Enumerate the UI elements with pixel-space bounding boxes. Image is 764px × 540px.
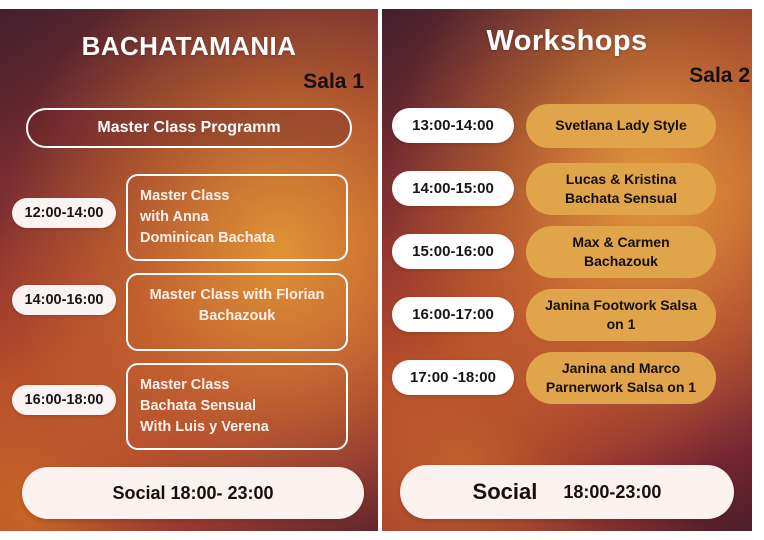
class-description-box: Master Class with FlorianBachazouk bbox=[126, 273, 348, 351]
schedule-row: 16:00-18:00 Master ClassBachata SensualW… bbox=[12, 363, 378, 450]
time-slot-pill: 17:00 -18:00 bbox=[392, 360, 514, 395]
class-description-box: Master ClassBachata SensualWith Luis y V… bbox=[126, 363, 348, 450]
right-panel-content: Workshops Sala 2 13:00-14:00 Svetlana La… bbox=[382, 9, 752, 531]
social-bar-sala-1: Social 18:00- 23:00 bbox=[22, 467, 364, 519]
workshop-description-pill: Janina and MarcoParnerwork Salsa on 1 bbox=[526, 352, 716, 404]
panel-sala-2: Workshops Sala 2 13:00-14:00 Svetlana La… bbox=[382, 9, 752, 531]
workshop-description-pill: Janina Footwork Salsaon 1 bbox=[526, 289, 716, 341]
social-bar-sala-2-time: 18:00-23:00 bbox=[563, 482, 661, 503]
time-slot-pill: 13:00-14:00 bbox=[392, 108, 514, 143]
workshop-description-pill: Max & CarmenBachazouk bbox=[526, 226, 716, 278]
social-bar-sala-2: Social 18:00-23:00 bbox=[400, 465, 734, 519]
workshop-row: 13:00-14:00 Svetlana Lady Style bbox=[392, 98, 752, 153]
panel-sala-1: BACHATAMANIA Sala 1 Master Class Program… bbox=[0, 9, 378, 531]
master-class-programm-banner: Master Class Programm bbox=[26, 108, 352, 148]
time-slot-pill: 16:00-18:00 bbox=[12, 385, 116, 415]
workshop-row: 15:00-16:00 Max & CarmenBachazouk bbox=[392, 224, 752, 279]
page-title-bachatamania: BACHATAMANIA bbox=[0, 9, 378, 62]
workshop-description-pill: Lucas & KristinaBachata Sensual bbox=[526, 163, 716, 215]
time-slot-pill: 16:00-17:00 bbox=[392, 297, 514, 332]
poster-root: BACHATAMANIA Sala 1 Master Class Program… bbox=[0, 0, 764, 540]
room-label-sala-1: Sala 1 bbox=[0, 62, 378, 94]
sala-1-schedule-list: 12:00-14:00 Master Classwith AnnaDominic… bbox=[0, 174, 378, 450]
workshop-description-pill: Svetlana Lady Style bbox=[526, 104, 716, 148]
room-label-sala-2: Sala 2 bbox=[382, 58, 752, 88]
workshop-row: 17:00 -18:00 Janina and MarcoParnerwork … bbox=[392, 350, 752, 405]
master-class-programm-banner-label: Master Class Programm bbox=[97, 119, 280, 137]
left-panel-content: BACHATAMANIA Sala 1 Master Class Program… bbox=[0, 9, 378, 531]
schedule-row: 14:00-16:00 Master Class with FlorianBac… bbox=[12, 273, 378, 351]
sala-2-workshop-list: 13:00-14:00 Svetlana Lady Style 14:00-15… bbox=[382, 98, 752, 405]
social-bar-sala-1-label: Social 18:00- 23:00 bbox=[112, 483, 273, 504]
social-bar-sala-2-label: Social bbox=[473, 479, 538, 505]
workshop-row: 14:00-15:00 Lucas & KristinaBachata Sens… bbox=[392, 161, 752, 216]
class-description-box: Master Classwith AnnaDominican Bachata bbox=[126, 174, 348, 261]
time-slot-pill: 12:00-14:00 bbox=[12, 198, 116, 228]
page-title-workshops: Workshops bbox=[382, 9, 752, 58]
workshop-row: 16:00-17:00 Janina Footwork Salsaon 1 bbox=[392, 287, 752, 342]
schedule-row: 12:00-14:00 Master Classwith AnnaDominic… bbox=[12, 174, 378, 261]
time-slot-pill: 15:00-16:00 bbox=[392, 234, 514, 269]
time-slot-pill: 14:00-16:00 bbox=[12, 285, 116, 315]
time-slot-pill: 14:00-15:00 bbox=[392, 171, 514, 206]
